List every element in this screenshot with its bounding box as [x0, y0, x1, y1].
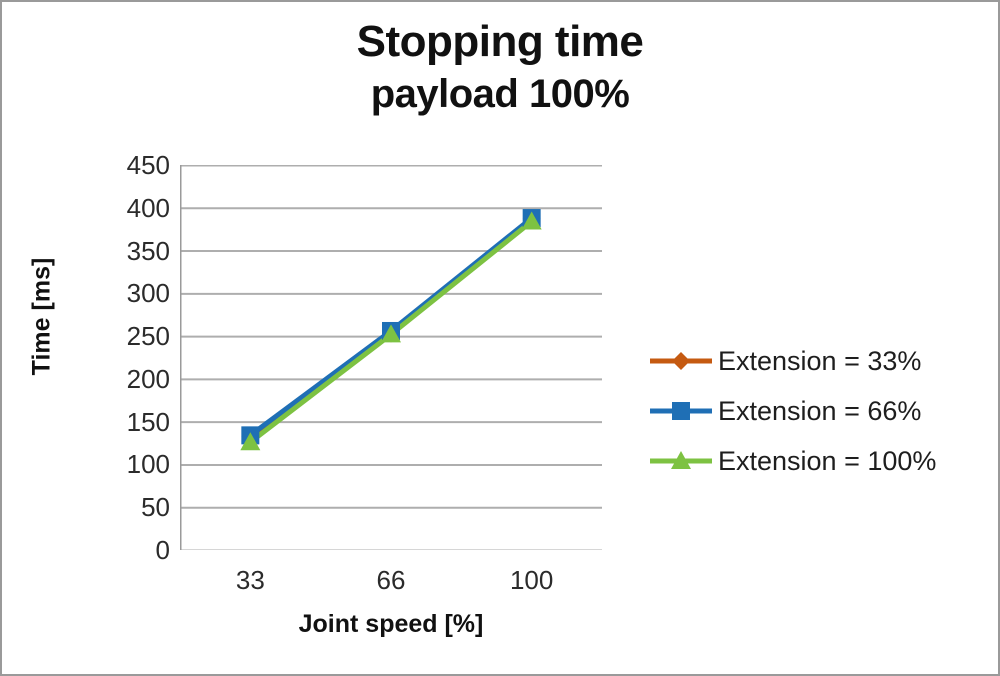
y-axis-tick-labels: 050100150200250300350400450	[94, 165, 170, 550]
legend-item[interactable]: Extension = 66%	[650, 386, 990, 436]
y-axis-title: Time [ms]	[28, 237, 57, 397]
plot-svg	[180, 165, 602, 550]
plot-area	[180, 165, 602, 550]
x-axis-tick-label: 33	[236, 567, 265, 593]
y-axis-tick-label: 450	[98, 152, 170, 178]
chart-container: Stopping time payload 100% 0501001502002…	[0, 0, 1000, 676]
y-axis-tick-label: 400	[98, 195, 170, 221]
y-axis-tick-label: 150	[98, 409, 170, 435]
y-axis-tick-label: 300	[98, 280, 170, 306]
legend-item[interactable]: Extension = 100%	[650, 436, 990, 486]
title-block: Stopping time payload 100%	[2, 20, 998, 114]
y-axis-tick-label: 350	[98, 238, 170, 264]
y-axis-tick-label: 50	[98, 494, 170, 520]
x-axis-tick-labels: 3366100	[180, 567, 602, 601]
legend-label: Extension = 100%	[718, 446, 936, 477]
x-axis-tick-label: 100	[510, 567, 553, 593]
legend-item[interactable]: Extension = 33%	[650, 336, 990, 386]
legend-label: Extension = 33%	[718, 346, 921, 377]
legend-marker-triangle-icon	[650, 448, 712, 474]
x-axis-tick-label: 66	[377, 567, 406, 593]
chart-legend: Extension = 33%Extension = 66%Extension …	[650, 336, 990, 486]
legend-marker-diamond-icon	[650, 348, 712, 374]
y-axis-tick-label: 200	[98, 366, 170, 392]
chart-subtitle: payload 100%	[2, 68, 998, 114]
x-axis-title: Joint speed [%]	[180, 610, 602, 639]
y-axis-tick-label: 250	[98, 323, 170, 349]
y-axis-tick-label: 0	[98, 537, 170, 563]
chart-title: Stopping time	[2, 20, 998, 68]
legend-label: Extension = 66%	[718, 396, 921, 427]
y-axis-tick-label: 100	[98, 451, 170, 477]
legend-marker-square-icon	[650, 398, 712, 424]
